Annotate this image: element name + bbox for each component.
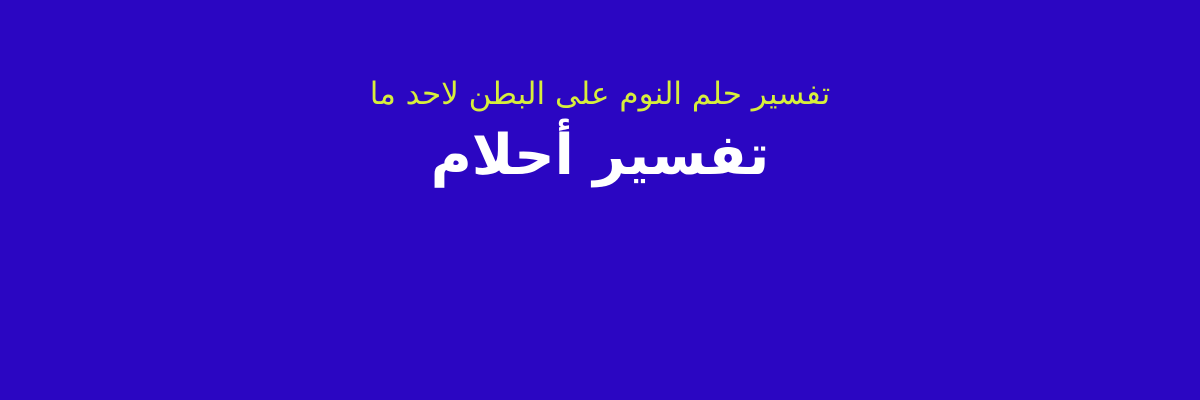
banner-title: تفسير أحلام [0, 127, 1200, 186]
banner-subtitle: تفسير حلم النوم على البطن لاحد ما [0, 78, 1200, 111]
text-banner: تفسير حلم النوم على البطن لاحد ما تفسير … [0, 0, 1200, 400]
banner-text-stack: تفسير حلم النوم على البطن لاحد ما تفسير … [0, 0, 1200, 185]
